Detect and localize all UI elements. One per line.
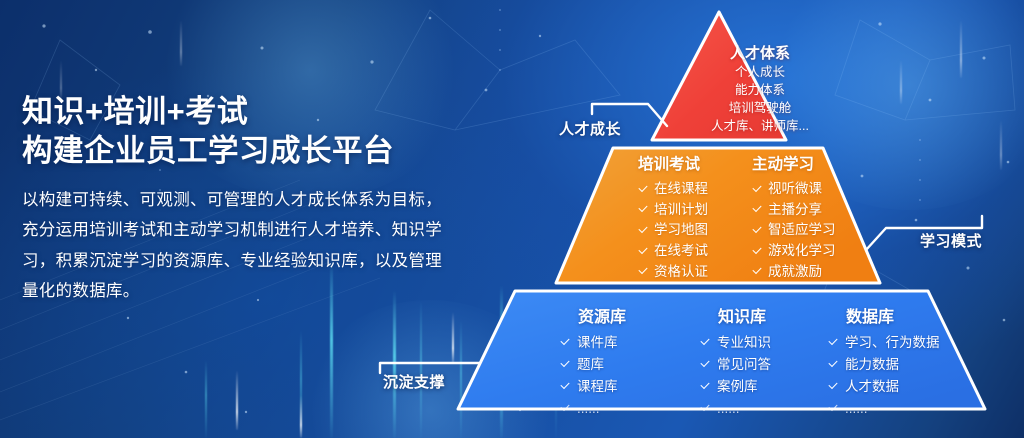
check-icon [752,246,763,257]
list-item: 人才数据 [828,376,940,398]
tier-middle-column-training: 培训考试 在线课程 培训计划 学习地图 在线考试 资格认证 [638,152,708,282]
list-item: 视听微课 [752,179,836,200]
list-item: 学习地图 [638,220,708,241]
check-icon [752,225,763,236]
list-item-label: 人才数据 [845,376,899,398]
list-item: 主播分享 [752,200,836,221]
list-item: 在线课程 [638,179,708,200]
check-icon [752,184,763,195]
list-item: 专业知识 [700,332,771,354]
callout-label-precipitation-support: 沉淀支撑 [383,371,445,392]
check-icon [828,359,839,370]
headline-line-2: 构建企业员工学习成长平台 [22,132,452,171]
check-icon [560,359,571,370]
list-item-label: 题库 [577,354,604,376]
list-item: 案例库 [700,376,771,398]
list-item-label: 学习、行为数据 [845,332,940,354]
check-icon [828,403,839,414]
tier-bottom-column-knowledge: 知识库 专业知识 常见问答 案例库 ...... [700,303,771,419]
check-icon [752,204,763,215]
list-item: ...... [700,398,771,420]
list-item: 成就激励 [752,262,836,283]
check-icon [560,337,571,348]
list-item-label: 游戏化学习 [768,241,836,262]
tier-middle-column-active-learning: 主动学习 视听微课 主播分享 智适应学习 游戏化学习 成就激励 [752,152,836,282]
list-item-label: 资格认证 [654,262,708,283]
list-item-label: 培训计划 [654,200,708,221]
list-item: 资格认证 [638,262,708,283]
list-item: 能力数据 [828,354,940,376]
callout-label-learning-mode: 学习模式 [920,230,982,251]
tier-top-item: 能力体系 [690,81,830,99]
list-item: 题库 [560,354,626,376]
headline-line-1: 知识+培训+考试 [22,92,452,132]
tier-top-item: 培训驾驶舱 [690,99,830,117]
column-title: 数据库 [828,303,940,327]
column-title: 资源库 [560,303,626,327]
check-icon [560,381,571,392]
list-item: 培训计划 [638,200,708,221]
check-icon [638,225,649,236]
column-title: 知识库 [700,303,771,327]
tier-bottom-column-resources: 资源库 课件库 题库 课程库 ...... [560,303,626,419]
list-item-label: 课件库 [577,332,618,354]
list-item: 课件库 [560,332,626,354]
check-icon [828,337,839,348]
check-icon [700,403,711,414]
check-icon [700,337,711,348]
tier-top-title: 人才体系 [700,42,820,63]
check-icon [638,184,649,195]
check-icon [700,359,711,370]
list-item-label: 在线课程 [654,179,708,200]
list-item: ...... [560,398,626,420]
list-item-label: 能力数据 [845,354,899,376]
check-icon [638,204,649,215]
list-item-label: ...... [717,398,740,420]
column-title: 主动学习 [752,152,836,174]
headline-block: 知识+培训+考试 构建企业员工学习成长平台 以构建可持续、可观测、可管理的人才成… [22,92,452,307]
list-item: 游戏化学习 [752,241,836,262]
list-item-label: 视听微课 [768,179,822,200]
check-icon [638,266,649,277]
check-icon [638,246,649,257]
learning-platform-banner: 知识+培训+考试 构建企业员工学习成长平台 以构建可持续、可观测、可管理的人才成… [0,0,1024,438]
list-item-label: 专业知识 [717,332,771,354]
callout-label-talent-growth: 人才成长 [559,118,621,139]
list-item-label: 常见问答 [717,354,771,376]
check-icon [752,266,763,277]
list-item-label: 主播分享 [768,200,822,221]
list-item-label: ...... [577,398,600,420]
description-paragraph: 以构建可持续、可观测、可管理的人才成长体系为目标，充分运用培训考试和主动学习机制… [22,185,442,307]
list-item-label: 课程库 [577,376,618,398]
tier-top-item: 人才库、讲师库... [690,117,830,135]
list-item-label: 学习地图 [654,220,708,241]
list-item: 智适应学习 [752,220,836,241]
tier-top-item: 个人成长 [690,63,830,81]
list-item: 常见问答 [700,354,771,376]
tier-top-items: 个人成长 能力体系 培训驾驶舱 人才库、讲师库... [690,63,830,136]
list-item-label: 智适应学习 [768,220,836,241]
list-item-label: 在线考试 [654,241,708,262]
check-icon [828,381,839,392]
check-icon [560,403,571,414]
column-title: 培训考试 [638,152,708,174]
list-item-label: ...... [845,398,868,420]
list-item: 在线考试 [638,241,708,262]
list-item-label: 案例库 [717,376,758,398]
list-item: 学习、行为数据 [828,332,940,354]
list-item: ...... [828,398,940,420]
tier-bottom-column-data: 数据库 学习、行为数据 能力数据 人才数据 ...... [828,303,940,419]
check-icon [700,381,711,392]
list-item: 课程库 [560,376,626,398]
list-item-label: 成就激励 [768,262,822,283]
